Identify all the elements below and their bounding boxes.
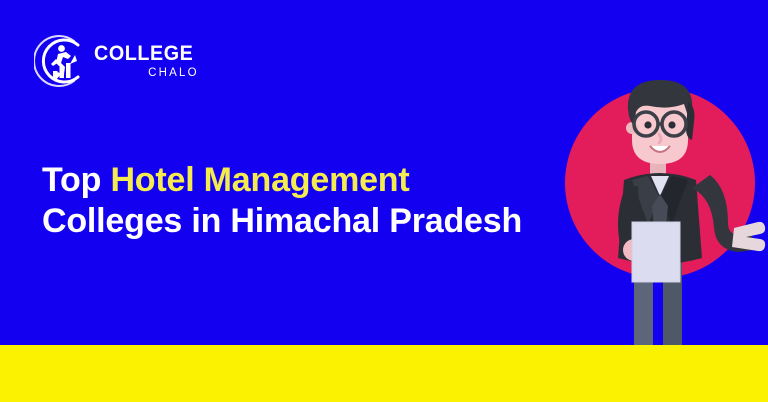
- illustration-man-presenting: [552, 70, 768, 360]
- page-title: Top Hotel Management Colleges in Himacha…: [42, 160, 522, 242]
- college-chalo-emblem-icon: [34, 34, 88, 88]
- headline-line-2: Colleges in Himachal Pradesh: [42, 201, 522, 242]
- headline-accent: Hotel Management: [110, 161, 409, 199]
- headline-line-1: Top Hotel Management: [42, 160, 522, 201]
- headline-prefix: Top: [42, 161, 110, 199]
- logo-word-chalo: CHALO: [148, 68, 199, 80]
- footer-accent-strip: [0, 345, 768, 402]
- brand-logo[interactable]: COLLEGE CHALO: [34, 33, 214, 89]
- hero-banner: COLLEGE CHALO Top Hotel Management Colle…: [0, 0, 768, 402]
- logo-word-college: COLLEGE: [94, 43, 193, 64]
- logo-wordmark: COLLEGE CHALO: [94, 43, 200, 80]
